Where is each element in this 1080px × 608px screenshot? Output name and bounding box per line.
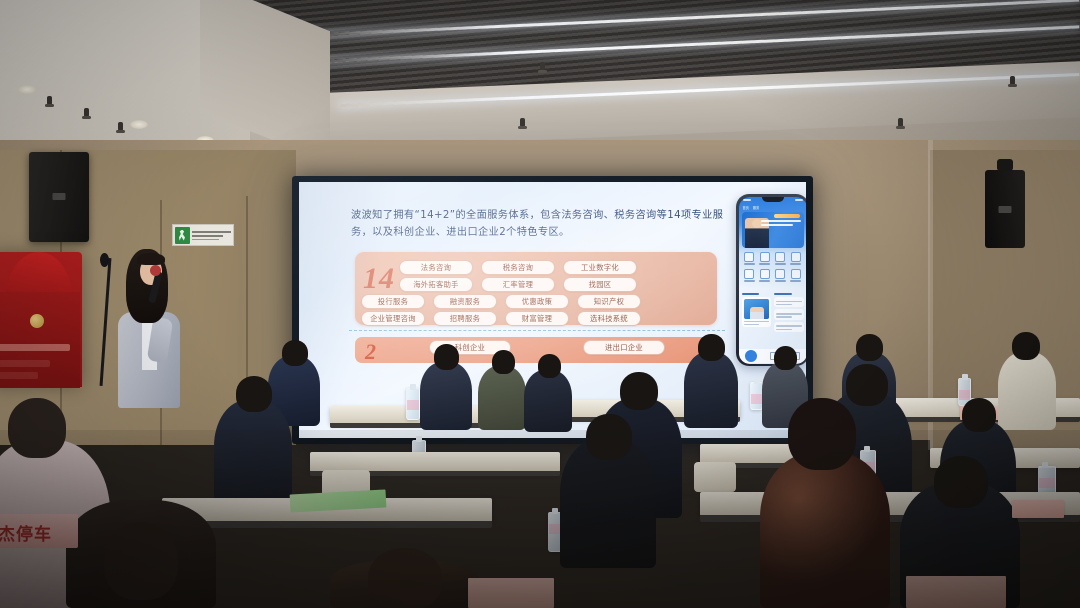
service-tag[interactable]: 海外拓客助手 [399,277,473,292]
attendee-head [698,334,725,361]
grid-item-label [744,280,755,282]
service-icon [744,269,754,279]
list-text-line [776,313,802,315]
speaker-logo-icon [999,206,1012,213]
attendee-head [934,456,988,508]
grid-item[interactable] [788,269,804,282]
exit-sign-line [192,231,231,233]
service-tag[interactable]: 工业数字化 [563,260,637,275]
service-tag[interactable]: 知识产权 [577,294,641,309]
grid-item[interactable] [742,252,758,265]
grid-item-label [775,280,786,282]
attendee [478,366,526,430]
phone-section-right [774,293,804,335]
card-image [744,299,770,319]
list-item[interactable] [774,309,804,319]
attendee [684,352,738,428]
floor-sign: 杰停车 [0,514,78,548]
attendee-head [104,522,178,600]
phone-tab-bar: 首页 服务 [743,205,760,210]
red-backdrop-panel [0,292,80,388]
slide-divider [349,330,725,331]
phone-icon-grid [742,252,804,282]
service-icon [791,252,801,262]
grid-item-label [775,263,786,265]
speaker-logo-icon [53,193,66,200]
attendee-head [774,346,797,370]
attendee-head [8,398,66,458]
attendee-head [620,372,658,410]
floor-sign-text: 杰停车 [0,520,52,545]
sprinkler-icon [520,118,525,127]
downlight-icon [18,85,36,94]
attendee [998,352,1056,430]
attendee-head [538,354,561,378]
service-icon [744,252,754,262]
attendee [524,370,572,432]
attendee-head [962,398,996,432]
exit-sign-line [192,235,223,237]
clock-icon [743,199,751,201]
list-item[interactable] [774,322,804,332]
mic-stand-head [100,253,109,267]
attendee-patterned [760,452,890,608]
list-text-line [776,301,802,303]
grid-item[interactable] [773,269,789,282]
phone-screen: 首页 服务 [739,197,807,364]
service-tag[interactable]: 选科技系统 [577,311,641,326]
exit-sign-subline [192,239,219,241]
presenter-bangs [137,253,165,265]
phone-mockup: 首页 服务 [736,194,806,366]
grid-item-label [790,263,801,265]
badge-2: 2 [365,339,376,365]
exit-sign-text [190,230,231,240]
grid-item[interactable] [773,252,789,265]
tag-row-4: 企业管理咨询 招聘服务 财富管理 选科技系统 [361,311,641,326]
name-card [906,576,1006,608]
tag-row-3: 投行服务 融资服务 优惠政策 知识产权 [361,294,641,309]
phone-section-left [742,293,772,335]
service-tag[interactable]: 找园区 [563,277,637,292]
water-bottle [406,388,420,420]
service-icon [791,269,801,279]
banner-badge [774,214,800,218]
attendee-head [492,350,515,374]
attendee-head [586,414,632,460]
running-person-icon [175,227,190,244]
attendee-head [434,344,459,370]
service-tag[interactable]: 招聘服务 [433,311,497,326]
sprinkler-icon [540,62,545,71]
signal-icon [795,199,803,201]
attendee-head [368,548,442,608]
phone-hero-banner[interactable] [742,212,804,248]
conference-photo-scene: 波波知了拥有“14+2”的全面服务体系，包含法务咨询、税务咨询等14项专业服务，… [0,0,1080,608]
grid-item[interactable] [757,252,773,265]
emergency-exit-sign [172,224,234,246]
grid-item[interactable] [757,269,773,282]
list-text-line [776,304,792,306]
sprinkler-icon [898,118,903,127]
tag-row-1: 法务咨询 税务咨询 工业数字化 [399,260,637,275]
phone-tab[interactable]: 首页 [743,205,749,210]
tag-row-2: 海外拓客助手 汇率管理 找园区 [399,277,637,292]
attendee-head [846,364,888,406]
attendee-head [788,398,856,470]
sprinkler-icon [118,122,123,131]
banner-text [761,220,801,228]
section-heading [742,293,760,296]
list-item[interactable] [774,297,804,307]
gold-emblem-icon [30,314,44,328]
service-tag[interactable]: 法务咨询 [399,260,473,275]
section-heading [774,293,792,296]
sprinkler-icon [1010,76,1015,85]
list-text-line [776,325,802,327]
tag-row-5: 科创企业 进出口企业 [429,340,665,355]
grid-item-label [759,280,770,282]
zone-tag[interactable]: 进出口企业 [583,340,665,355]
grid-item-label [744,263,755,265]
backdrop-text-line [0,372,38,379]
attendee-head [282,340,308,366]
desk [310,452,560,472]
card-text-line [744,324,760,326]
banner-text-line [761,220,801,222]
microphone-head [150,265,161,276]
nav-home-icon[interactable] [745,350,757,362]
service-icon [760,252,770,262]
sprinkler-icon [84,108,89,117]
attendee-head [1012,332,1040,360]
service-tag[interactable]: 税务咨询 [481,260,555,275]
service-tag[interactable]: 财富管理 [505,311,569,326]
grid-item-label [759,263,770,265]
badge-14: 14 [363,262,395,296]
phone-content-sections [742,293,804,335]
service-icon [775,252,785,262]
list-text-line [776,316,792,318]
card-text-line [744,321,770,323]
service-tag[interactable]: 投行服务 [361,294,425,309]
grid-item-label [790,280,801,282]
attendee [420,362,472,430]
content-card[interactable] [742,297,772,327]
backdrop-text-line [0,360,50,367]
chair [694,462,736,492]
service-icon [775,269,785,279]
phone-notch [762,197,784,202]
service-icon [760,269,770,279]
grid-item[interactable] [788,252,804,265]
attendee-head [236,376,272,412]
name-card [1012,500,1064,518]
banner-text-line [761,224,794,226]
service-tag[interactable]: 汇率管理 [481,277,555,292]
name-card [468,578,554,608]
phone-tab[interactable]: 服务 [753,205,759,210]
service-tag[interactable]: 企业管理咨询 [361,311,425,326]
slide-title: 波波知了拥有“14+2”的全面服务体系，包含法务咨询、税务咨询等14项专业服务，… [351,208,736,241]
service-tag[interactable]: 融资服务 [433,294,497,309]
sprinkler-icon [47,96,52,105]
attendee-head [856,334,883,361]
downlight-icon [130,120,148,129]
right-wall-speaker [985,170,1025,248]
backdrop-text-line [0,344,70,351]
list-text-line [776,329,792,331]
left-wall-speaker [29,152,89,242]
attendee [214,400,292,510]
desk-edge [162,521,492,528]
grid-item[interactable] [742,269,758,282]
service-tag[interactable]: 优惠政策 [505,294,569,309]
